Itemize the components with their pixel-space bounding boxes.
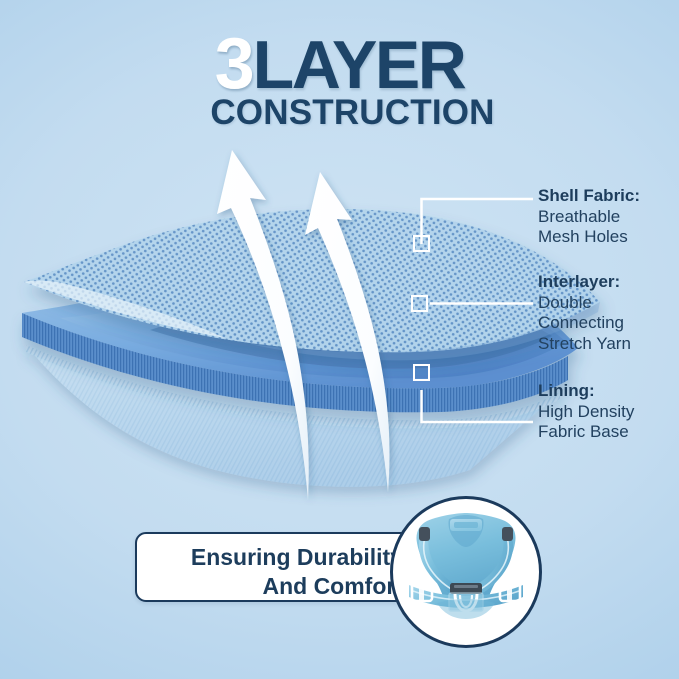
tagline-line-2: And Comfort — [137, 572, 403, 601]
callout-body-interlayer-line2: Connecting — [538, 313, 678, 334]
callout-marker-interlayer — [411, 295, 428, 312]
title-line-1: 3LAYER — [0, 34, 679, 96]
callout-body-shell-fabric-line1: Breathable — [538, 207, 678, 228]
connector-shell-fabric — [422, 199, 534, 244]
callout-title-shell-fabric: Shell Fabric: — [538, 186, 678, 207]
layer-lining — [26, 345, 560, 487]
connector-lining — [422, 390, 534, 422]
callout-body-interlayer-line3: Stretch Yarn — [538, 334, 678, 355]
title-word: LAYER — [253, 27, 465, 103]
callout-title-interlayer: Interlayer: — [538, 272, 678, 293]
layer-shell-fabric — [24, 209, 600, 360]
callout-body-lining-line1: High Density — [538, 402, 678, 423]
callout-marker-shell-fabric — [413, 235, 430, 252]
callout-body-lining-line2: Fabric Base — [538, 422, 678, 443]
layer-interlayer — [22, 264, 578, 413]
infographic-root: 3LAYER CONSTRUCTION Shell Fabric: Breath… — [0, 0, 679, 679]
tagline-banner: Ensuring Durability And Comfort — [135, 532, 421, 602]
callout-title-lining: Lining: — [538, 381, 678, 402]
airflow-arrows — [217, 150, 390, 500]
title-subtitle: CONSTRUCTION — [0, 93, 679, 133]
callout-body-interlayer-line1: Double — [538, 293, 678, 314]
callout-text-shell-fabric: Shell Fabric: Breathable Mesh Holes — [538, 186, 678, 248]
product-photo-circle — [390, 496, 542, 648]
tagline-line-1: Ensuring Durability — [137, 543, 403, 572]
callout-body-shell-fabric-line2: Mesh Holes — [538, 227, 678, 248]
callout-text-lining: Lining: High Density Fabric Base — [538, 381, 678, 443]
page-title: 3LAYER CONSTRUCTION — [0, 34, 679, 133]
callout-text-interlayer: Interlayer: Double Connecting Stretch Ya… — [538, 272, 678, 354]
tagline-text: Ensuring Durability And Comfort — [137, 543, 403, 601]
dog-harness-image — [393, 499, 539, 645]
callout-marker-lining — [413, 364, 430, 381]
